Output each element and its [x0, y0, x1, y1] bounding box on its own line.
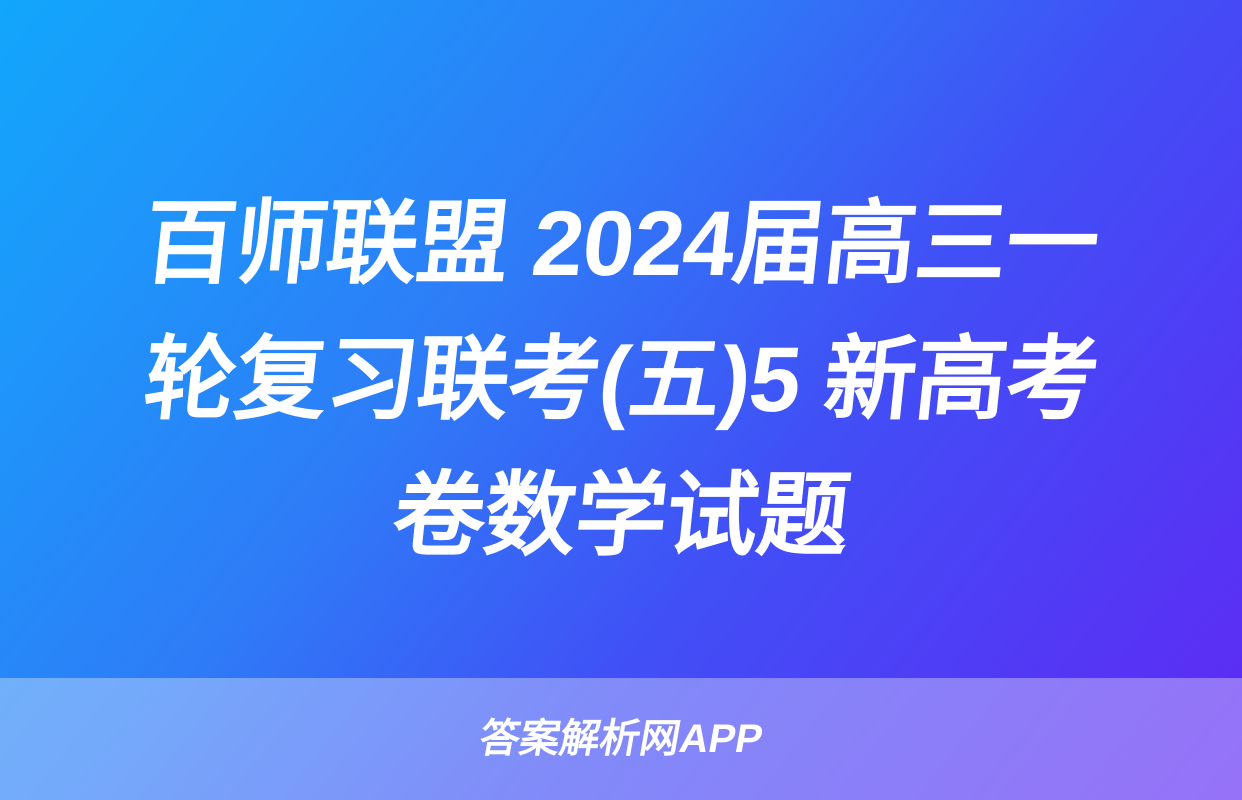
title-line-1: 百师联盟 2024届高三一	[55, 176, 1187, 312]
title-line-3: 卷数学试题	[55, 448, 1187, 584]
poster-card: 百师联盟 2024届高三一 轮复习联考(五)5 新高考 卷数学试题 答案解析网A…	[0, 0, 1242, 800]
footer-watermark-band: 答案解析网APP	[0, 678, 1242, 800]
app-watermark-label: 答案解析网APP	[476, 719, 765, 759]
title-line-2: 轮复习联考(五)5 新高考	[55, 312, 1187, 448]
page-title: 百师联盟 2024届高三一 轮复习联考(五)5 新高考 卷数学试题	[62, 176, 1180, 608]
